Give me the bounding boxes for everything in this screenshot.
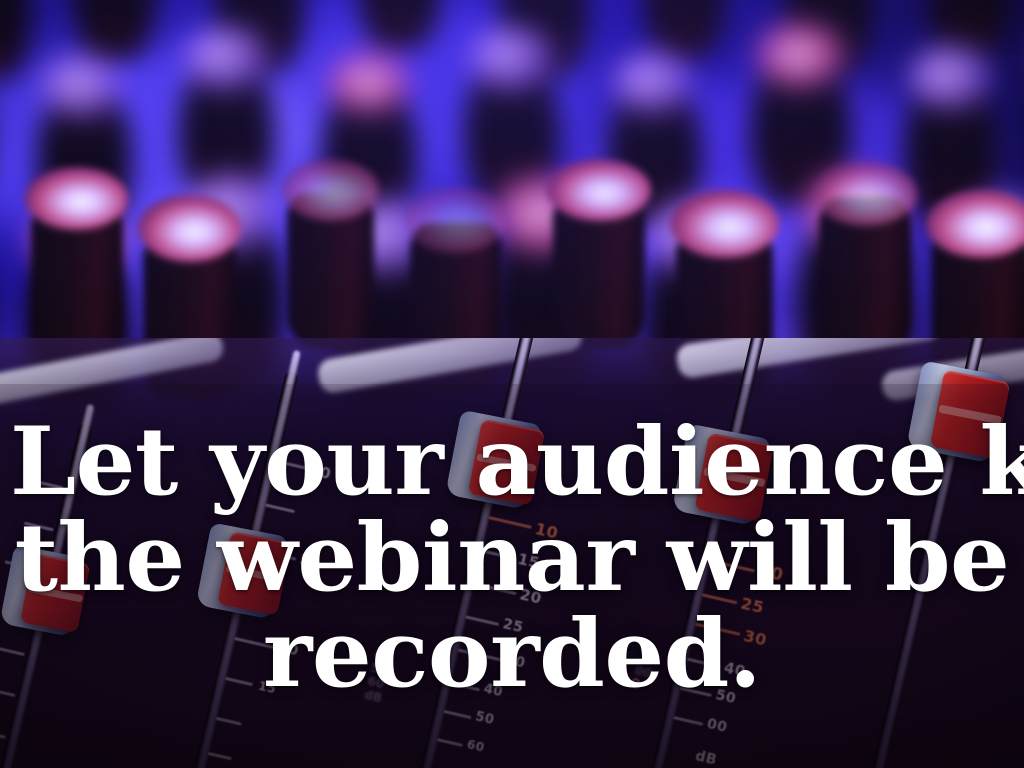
mixer-knob: [819, 197, 911, 356]
mixer-knob: [0, 0, 31, 78]
mixer-knob: [553, 193, 645, 348]
headline-line-2: the webinar will be: [10, 510, 1014, 606]
mixer-knob: [287, 193, 374, 348]
headline-line-1: Let your audience know if: [10, 414, 1014, 510]
scale-label: 00: [705, 716, 729, 736]
scale-label: 60: [466, 738, 486, 756]
slide-headline: Let your audience know if the webinar wi…: [0, 414, 1024, 702]
scale-label: dB: [694, 747, 719, 767]
mixer-knob: [358, 0, 441, 49]
mixer-knob: [73, 0, 156, 59]
mixer-knob: [31, 202, 123, 361]
slide: 0 5 10 15: [0, 0, 1024, 768]
scale-label: 50: [474, 710, 496, 729]
headline-line-3: recorded.: [10, 606, 1014, 702]
